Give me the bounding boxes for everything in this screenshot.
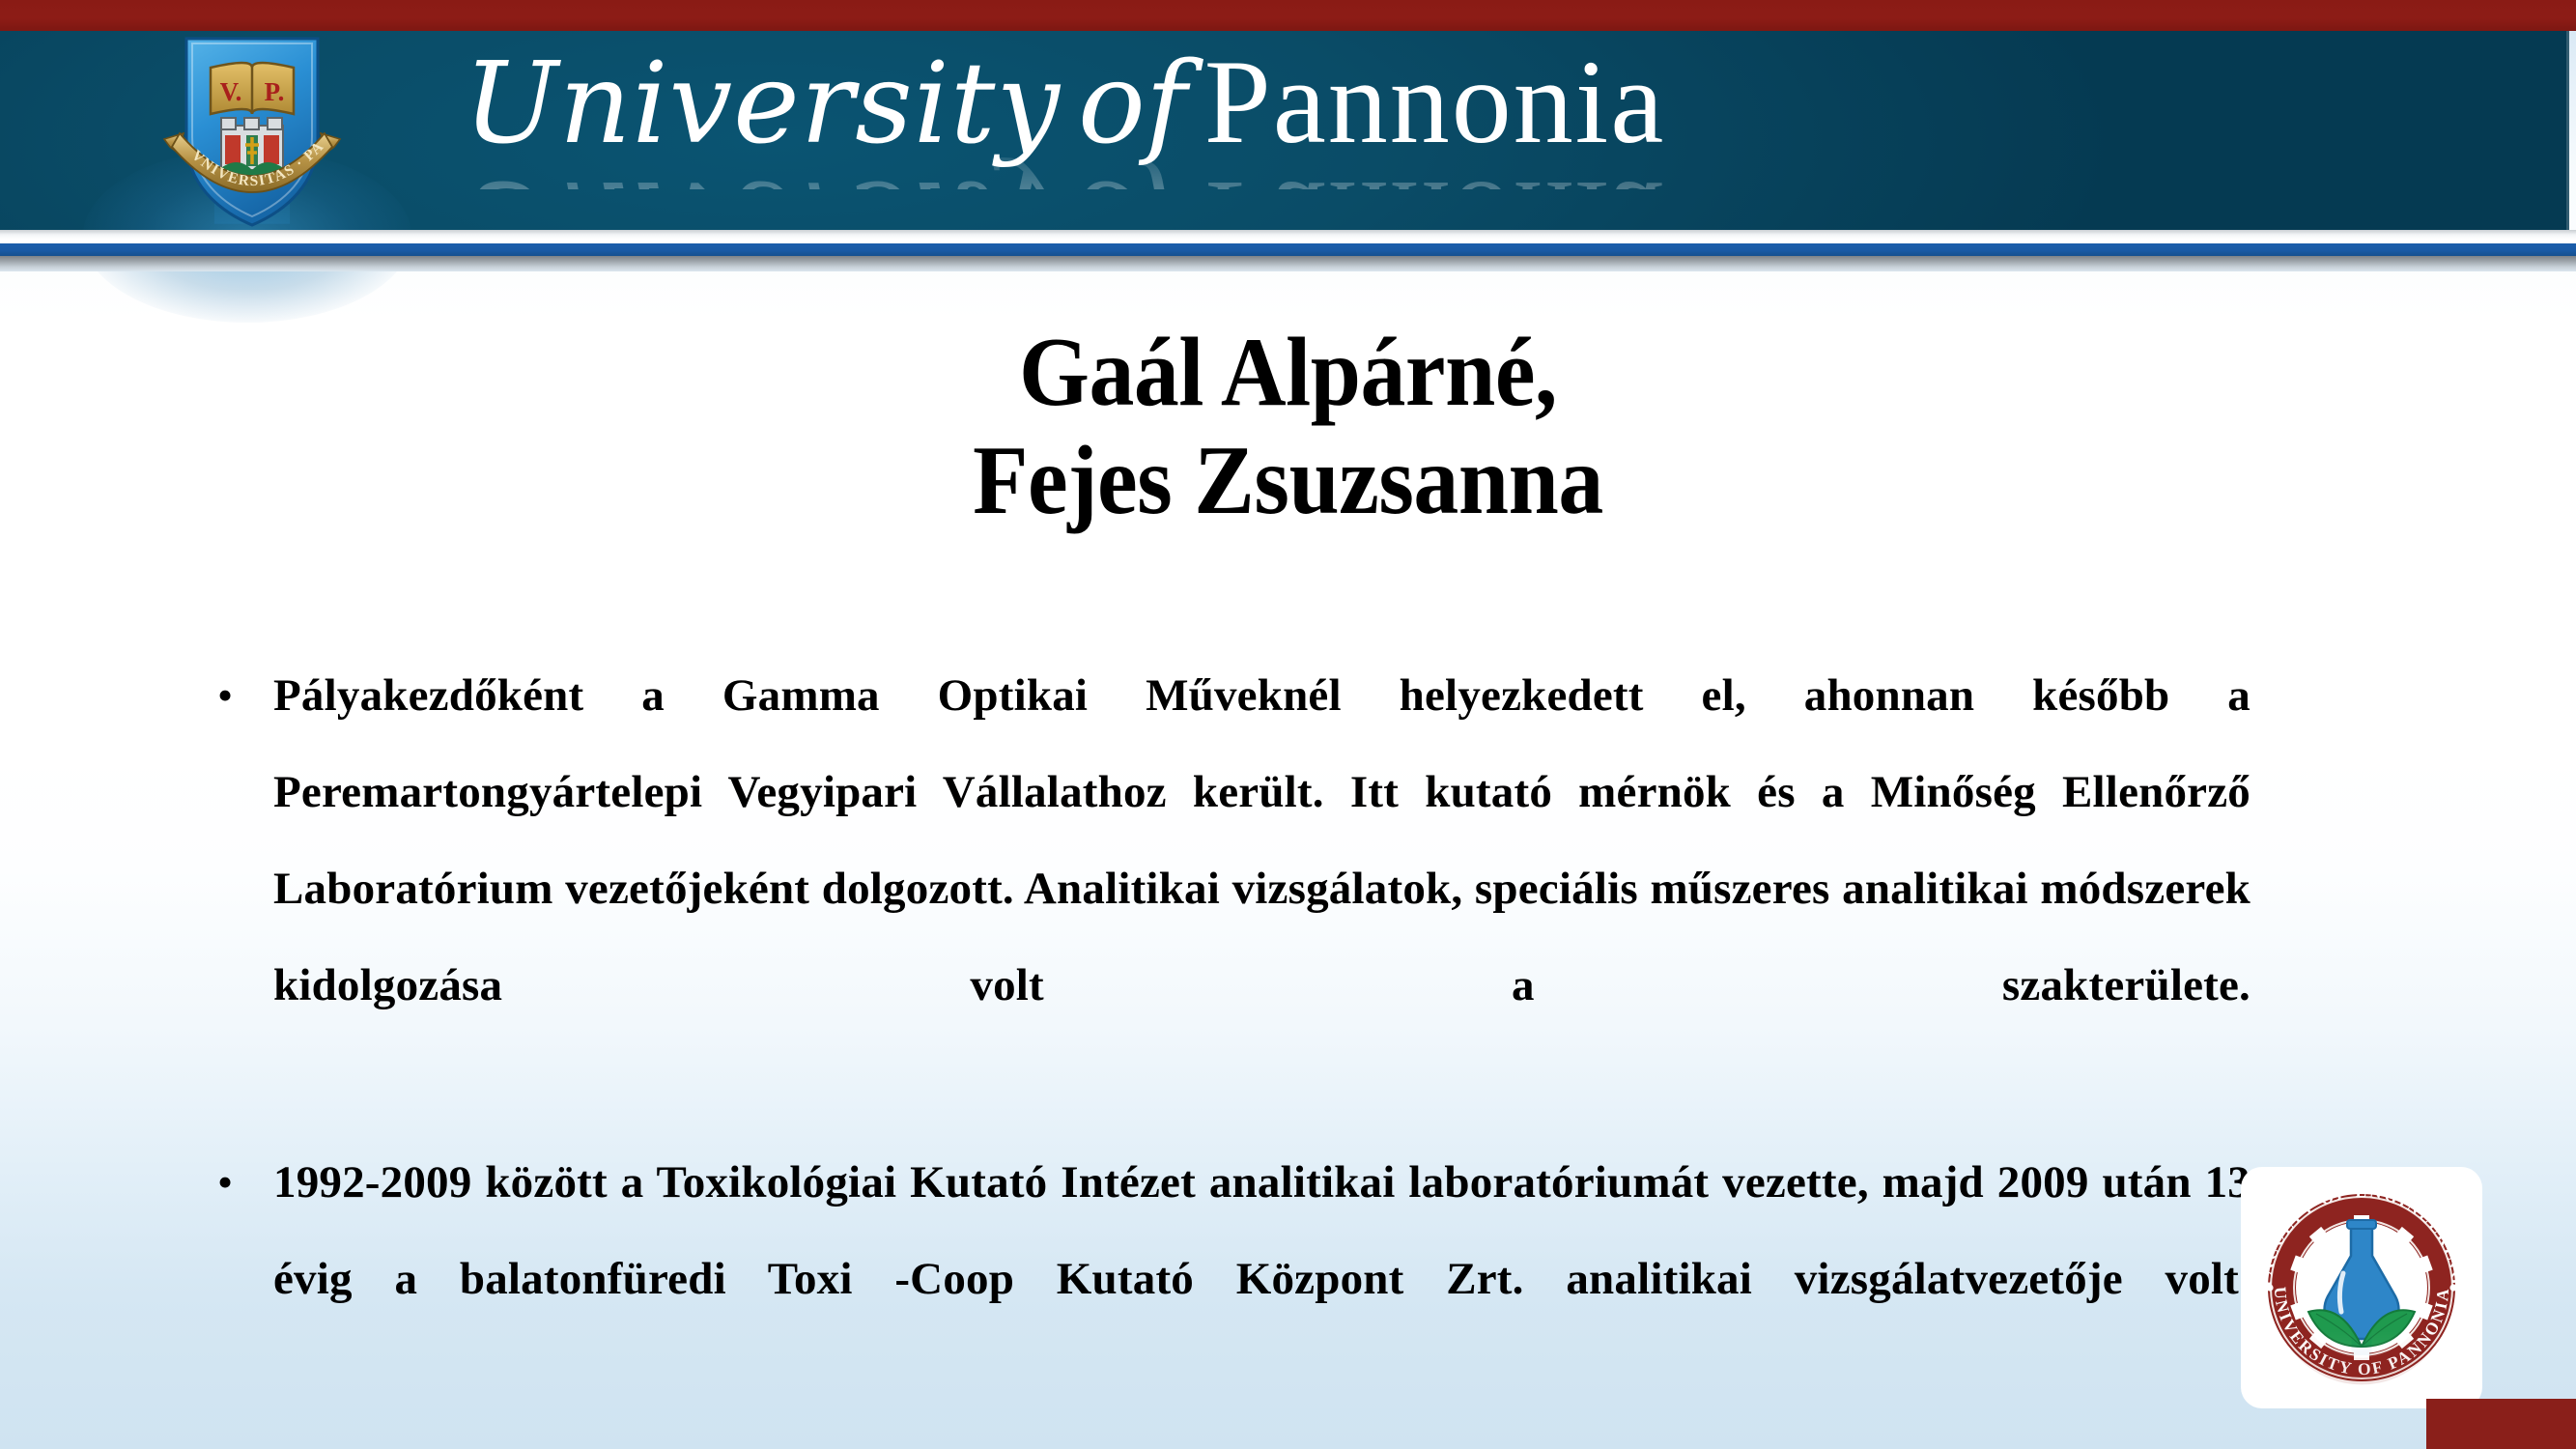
header-white-separator: [0, 230, 2576, 243]
bullet-glyph-icon: •: [217, 1134, 273, 1231]
list-item: • 1992-2009 között a Toxikológiai Kutató…: [217, 1134, 2250, 1424]
university-crest-logo: V. P.: [141, 33, 363, 241]
crest-shield-icon: V. P.: [141, 33, 363, 241]
bullet-text-1: Pályakezdőként a Gamma Optikai Műveknél …: [273, 647, 2250, 1130]
seal-reflection: [2247, 1323, 2477, 1410]
faculty-seal-logo: FACULTY OF ENGINEERING UNIVERSITY OF PAN…: [2241, 1167, 2482, 1408]
slide: UniversityofPannonia UniversityofPannoni…: [0, 0, 2576, 1449]
crest-book-icon: V. P.: [211, 63, 294, 114]
svg-text:P.: P.: [265, 77, 285, 106]
bullet-text-2: 1992-2009 között a Toxikológiai Kutató I…: [273, 1134, 2250, 1424]
brand-wordmark: UniversityofPannonia: [464, 43, 2106, 187]
list-item: • Pályakezdőként a Gamma Optikai Művekné…: [217, 647, 2250, 1130]
page-title: Gaál Alpárné, Fejes Zsuzsanna: [0, 319, 2576, 535]
brand-pannonia-text: Pannonia: [1204, 36, 1666, 168]
body-content: • Pályakezdőként a Gamma Optikai Művekné…: [217, 647, 2250, 1428]
page-title-line-2: Fejes Zsuzsanna: [103, 427, 2474, 535]
header-blue-rule: [0, 243, 2576, 256]
header-gray-shadow: [0, 256, 2576, 271]
brand-university-text: University: [464, 39, 1061, 169]
page-title-line-1: Gaál Alpárné,: [103, 319, 2474, 427]
slide-header: UniversityofPannonia UniversityofPannoni…: [0, 0, 2576, 259]
corner-accent-block: [2426, 1399, 2576, 1449]
svg-text:V.: V.: [220, 77, 242, 106]
bullet-glyph-icon: •: [217, 647, 273, 744]
brand-of-text: of: [1061, 39, 1204, 169]
header-red-band: [0, 0, 2576, 31]
